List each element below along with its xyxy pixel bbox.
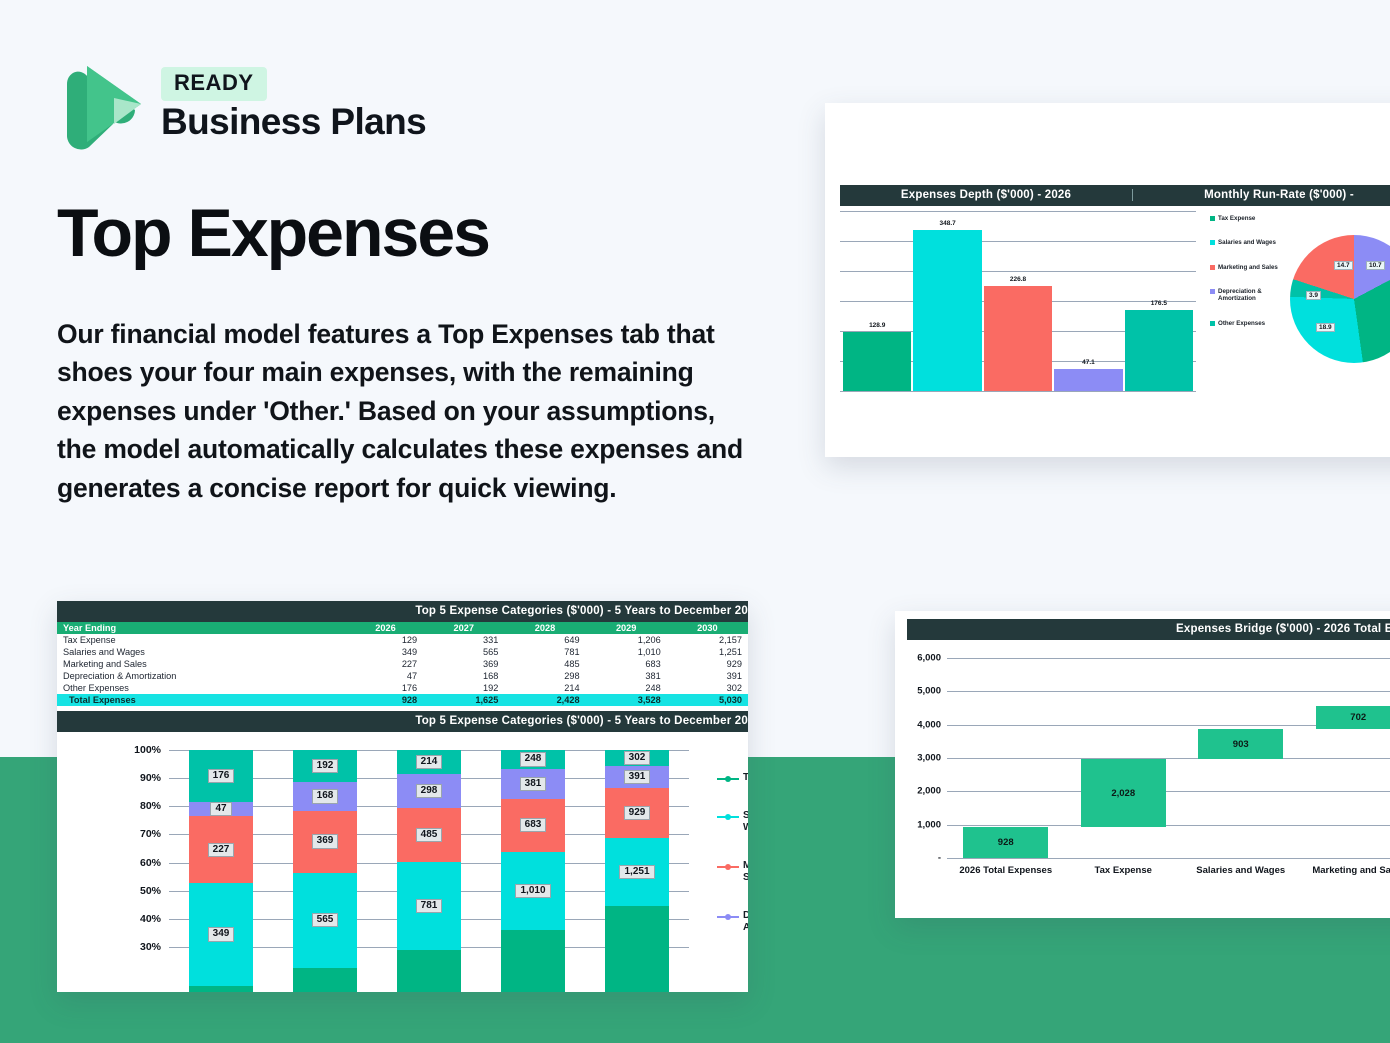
table-col-2030: 2030 xyxy=(667,622,748,634)
segment-label: 302 xyxy=(624,751,651,766)
waterfall-ytick-0: 6,000 xyxy=(895,653,941,664)
expenses-depth-title: Expenses Depth ($'000) - 2026 xyxy=(840,189,1133,201)
segment-label: 391 xyxy=(624,770,651,785)
stacked-segment-salaries-and-wages: 565 xyxy=(293,873,357,968)
row-label: Marketing and Sales xyxy=(57,658,348,670)
stacked-segment-other-expenses: 214 xyxy=(397,750,461,774)
depth-bar-2: 226.8 xyxy=(984,286,1052,391)
row-value: 168 xyxy=(423,670,504,682)
top5-table-title: Top 5 Expense Categories ($'000) - 5 Yea… xyxy=(57,601,748,622)
waterfall-ytick-4: 2,000 xyxy=(895,786,941,797)
segment-label: 1,251 xyxy=(619,865,654,880)
row-value: 485 xyxy=(504,658,585,670)
waterfall-bar-label: 903 xyxy=(1233,739,1249,750)
stacked-legend-item-1: Salaries and Wages xyxy=(717,810,748,834)
segment-label: 929 xyxy=(624,806,651,821)
stacked-legend-item-3: Depreciation & Amortization xyxy=(717,910,748,934)
depth-bar-label-3: 47.1 xyxy=(1054,359,1122,366)
depth-bar-4: 176.5 xyxy=(1125,310,1193,391)
waterfall-columns: 9282,028903702 xyxy=(947,658,1390,858)
stacked-segment-depreciation-amortization: 298 xyxy=(397,774,461,808)
legend-label: Marketing and Sales xyxy=(743,860,748,884)
stacked-legend: Tax ExpenseSalaries and WagesMarketing a… xyxy=(717,772,748,960)
segment-label: 485 xyxy=(416,828,443,843)
row-value: 565 xyxy=(423,646,504,658)
stacked-ytick-7: 30% xyxy=(57,941,161,953)
segment-label: 683 xyxy=(520,818,547,833)
row-value: 369 xyxy=(423,658,504,670)
legend-label: Depreciation & Amortization xyxy=(743,910,748,934)
row-value: 381 xyxy=(586,670,667,682)
expenses-bridge-card: Expenses Bridge ($'000) - 2026 Total Exp… xyxy=(895,611,1390,918)
segment-label: 248 xyxy=(520,752,547,767)
expenses-depth-title-bar: Expenses Depth ($'000) - 2026 Monthly Ru… xyxy=(840,185,1390,206)
stacked-legend-item-0: Tax Expense xyxy=(717,772,748,784)
waterfall-column-2: 903 xyxy=(1182,658,1300,858)
legend-marker-icon xyxy=(717,862,739,871)
waterfall-ytick-6: - xyxy=(895,853,941,864)
stacked-segment-tax-expense xyxy=(189,986,253,992)
segment-label: 349 xyxy=(208,927,235,942)
table-row: Salaries and Wages3495657811,0101,251 xyxy=(57,646,748,658)
stacked-column-2029: 2483816831,010 xyxy=(481,750,585,955)
monthly-run-rate-title: Monthly Run-Rate ($'000) - xyxy=(1133,189,1390,201)
row-value: 349 xyxy=(348,646,423,658)
legend-swatch-icon xyxy=(1210,216,1215,221)
stacked-segment-marketing-and-sales: 369 xyxy=(293,811,357,873)
expenses-depth-plot: 128.9348.7226.847.1176.5 xyxy=(840,211,1196,391)
pie-label-3: 14.7 xyxy=(1334,261,1353,270)
table-row: Depreciation & Amortization4716829838139… xyxy=(57,670,748,682)
depth-legend-item-0: Tax Expense xyxy=(1210,215,1290,222)
waterfall-bar-label: 928 xyxy=(998,837,1014,848)
total-label: Total Expenses xyxy=(57,694,348,706)
legend-marker-icon xyxy=(717,812,739,821)
stacked-segment-depreciation-amortization: 47 xyxy=(189,802,253,817)
row-value: 214 xyxy=(504,682,585,694)
total-value: 1,625 xyxy=(423,694,504,706)
waterfall-xtick-1: Tax Expense xyxy=(1065,865,1183,876)
stacked-ytick-3: 70% xyxy=(57,828,161,840)
waterfall-ytick-2: 4,000 xyxy=(895,719,941,730)
stacked-segment-marketing-and-sales: 683 xyxy=(501,799,565,852)
stacked-ytick-2: 80% xyxy=(57,800,161,812)
waterfall-xtick-0: 2026 Total Expenses xyxy=(947,865,1065,876)
depth-bar-1: 348.7 xyxy=(913,230,981,391)
legend-swatch-icon xyxy=(1210,265,1215,270)
pie-slices xyxy=(1290,235,1390,363)
row-label: Other Expenses xyxy=(57,682,348,694)
segment-label: 168 xyxy=(312,789,339,804)
depth-legend-item-2: Marketing and Sales xyxy=(1210,264,1290,271)
row-label: Salaries and Wages xyxy=(57,646,348,658)
stacked-segment-salaries-and-wages: 349 xyxy=(189,883,253,986)
segment-label: 192 xyxy=(312,759,339,774)
waterfall-column-0: 928 xyxy=(947,658,1065,858)
stacked-ytick-4: 60% xyxy=(57,857,161,869)
legend-label: Depreciation & Amortization xyxy=(1218,288,1290,303)
legend-label: Tax Expense xyxy=(1218,215,1255,222)
depth-bar-label-1: 348.7 xyxy=(913,220,981,227)
stacked-segment-marketing-and-sales: 485 xyxy=(397,808,461,863)
stacked-segment-other-expenses: 302 xyxy=(605,750,669,766)
segment-label: 214 xyxy=(416,755,443,770)
row-value: 192 xyxy=(423,682,504,694)
stacked-columns: 1764722734919216836956521429848578124838… xyxy=(169,750,689,955)
page-description: Our financial model features a Top Expen… xyxy=(57,315,757,507)
ready-badge: READY xyxy=(161,67,267,101)
segment-label: 227 xyxy=(208,843,235,858)
row-value: 1,251 xyxy=(667,646,748,658)
row-value: 298 xyxy=(504,670,585,682)
segment-label: 47 xyxy=(210,802,231,817)
stacked-segment-marketing-and-sales: 227 xyxy=(189,816,253,883)
stacked-segment-tax-expense xyxy=(501,930,565,992)
table-col-2027: 2027 xyxy=(423,622,504,634)
waterfall-ytick-3: 3,000 xyxy=(895,753,941,764)
stacked-segment-tax-expense xyxy=(293,968,357,992)
monthly-run-rate-pie: 10.7 3.9 18.9 14.7 xyxy=(1290,235,1390,363)
stacked-segment-marketing-and-sales: 929 xyxy=(605,788,669,838)
expenses-depth-card: Expenses Depth ($'000) - 2026 Monthly Ru… xyxy=(825,103,1390,457)
segment-label: 369 xyxy=(312,834,339,849)
waterfall-bar-label: 702 xyxy=(1350,712,1366,723)
waterfall-ytick-1: 5,000 xyxy=(895,686,941,697)
expenses-bridge-title: Expenses Bridge ($'000) - 2026 Total Exp… xyxy=(907,619,1390,640)
waterfall-ytick-5: 1,000 xyxy=(895,819,941,830)
legend-swatch-icon xyxy=(1210,240,1215,245)
row-value: 929 xyxy=(667,658,748,670)
depth-legend-item-4: Other Expenses xyxy=(1210,320,1290,327)
stacked-segment-other-expenses: 248 xyxy=(501,750,565,769)
brand-name: Business Plans xyxy=(161,103,426,142)
depth-bar-label-0: 128.9 xyxy=(843,322,911,329)
table-col-2026: 2026 xyxy=(348,622,423,634)
stacked-ytick-0: 100% xyxy=(57,744,161,756)
stacked-column-2027: 192168369565 xyxy=(273,750,377,955)
stacked-segment-depreciation-amortization: 168 xyxy=(293,782,357,810)
waterfall-x-axis: 2026 Total ExpensesTax ExpenseSalaries a… xyxy=(947,865,1390,876)
depth-bar-0: 128.9 xyxy=(843,332,911,391)
row-value: 47 xyxy=(348,670,423,682)
top5-stacked-title: Top 5 Expense Categories ($'000) - 5 Yea… xyxy=(57,711,748,732)
depth-legend-item-1: Salaries and Wages xyxy=(1210,239,1290,246)
table-col-2029: 2029 xyxy=(586,622,667,634)
row-value: 302 xyxy=(667,682,748,694)
row-value: 227 xyxy=(348,658,423,670)
waterfall-bar-0: 928 xyxy=(963,827,1048,858)
waterfall-bar-1: 2,028 xyxy=(1081,759,1166,827)
stacked-segment-salaries-and-wages: 1,010 xyxy=(501,852,565,930)
waterfall-column-3: 702 xyxy=(1300,658,1390,858)
stacked-segment-tax-expense xyxy=(397,950,461,992)
total-value: 928 xyxy=(348,694,423,706)
segment-label: 176 xyxy=(208,769,235,784)
stacked-legend-item-2: Marketing and Sales xyxy=(717,860,748,884)
legend-marker-icon xyxy=(717,912,739,921)
segment-label: 1,010 xyxy=(515,884,550,899)
page-title: Top Expenses xyxy=(57,199,489,267)
stacked-ytick-1: 90% xyxy=(57,772,161,784)
waterfall-column-1: 2,028 xyxy=(1065,658,1183,858)
total-value: 5,030 xyxy=(667,694,748,706)
table-header-row: Year Ending 2026 2027 2028 2029 2030 xyxy=(57,622,748,634)
segment-label: 381 xyxy=(520,777,547,792)
play-triangle-logo-icon xyxy=(57,58,145,150)
row-label: Tax Expense xyxy=(57,634,348,646)
depth-legend: Tax ExpenseSalaries and WagesMarketing a… xyxy=(1210,215,1290,344)
stacked-plot: 1764722734919216836956521429848578124838… xyxy=(169,750,689,955)
row-value: 649 xyxy=(504,634,585,646)
row-value: 1,010 xyxy=(586,646,667,658)
waterfall-xtick-3: Marketing and Sales xyxy=(1300,865,1390,876)
row-value: 129 xyxy=(348,634,423,646)
row-value: 248 xyxy=(586,682,667,694)
row-value: 781 xyxy=(504,646,585,658)
top5-expense-card: Top 5 Expense Categories ($'000) - 5 Yea… xyxy=(57,601,748,992)
stacked-segment-other-expenses: 192 xyxy=(293,750,357,782)
stacked-ytick-5: 50% xyxy=(57,885,161,897)
legend-label: Salaries and Wages xyxy=(1218,239,1276,246)
stacked-segment-depreciation-amortization: 391 xyxy=(605,766,669,787)
row-value: 331 xyxy=(423,634,504,646)
row-label: Depreciation & Amortization xyxy=(57,670,348,682)
row-value: 683 xyxy=(586,658,667,670)
legend-label: Tax Expense xyxy=(743,772,748,784)
stacked-ytick-6: 40% xyxy=(57,913,161,925)
table-row: Other Expenses176192214248302 xyxy=(57,682,748,694)
row-value: 391 xyxy=(667,670,748,682)
depth-bar-label-4: 176.5 xyxy=(1125,300,1193,307)
row-value: 2,157 xyxy=(667,634,748,646)
depth-bars: 128.9348.7226.847.1176.5 xyxy=(842,211,1194,391)
stacked-segment-tax-expense xyxy=(605,906,669,992)
row-value: 1,206 xyxy=(586,634,667,646)
depth-bar-3: 47.1 xyxy=(1054,369,1122,391)
pie-label-2: 18.9 xyxy=(1316,323,1335,332)
legend-marker-icon xyxy=(717,774,739,783)
segment-label: 565 xyxy=(312,913,339,928)
segment-label: 781 xyxy=(416,899,443,914)
top5-stacked-chart: 100%90%80%70%60%50%40%30% 17647227349192… xyxy=(57,732,748,962)
waterfall-bar-label: 2,028 xyxy=(1111,788,1135,799)
segment-label: 298 xyxy=(416,784,443,799)
top5-expense-table: Year Ending 2026 2027 2028 2029 2030 Tax… xyxy=(57,622,748,706)
stacked-segment-salaries-and-wages: 781 xyxy=(397,862,461,950)
legend-label: Salaries and Wages xyxy=(743,810,748,834)
stacked-segment-other-expenses: 176 xyxy=(189,750,253,802)
legend-label: Marketing and Sales xyxy=(1218,264,1278,271)
waterfall-bar-2: 903 xyxy=(1198,729,1283,759)
stacked-column-2030: 3023919291,251 xyxy=(585,750,689,955)
expenses-bridge-chart: 6,0005,0004,0003,0002,0001,000- 9282,028… xyxy=(895,640,1390,905)
stacked-segment-depreciation-amortization: 381 xyxy=(501,769,565,799)
table-total-row: Total Expenses9281,6252,4283,5285,030 xyxy=(57,694,748,706)
table-row: Marketing and Sales227369485683929 xyxy=(57,658,748,670)
waterfall-bar-3: 702 xyxy=(1316,706,1390,729)
table-col-2028: 2028 xyxy=(504,622,585,634)
depth-legend-item-3: Depreciation & Amortization xyxy=(1210,288,1290,303)
waterfall-xtick-2: Salaries and Wages xyxy=(1182,865,1300,876)
row-value: 176 xyxy=(348,682,423,694)
legend-label: Other Expenses xyxy=(1218,320,1265,327)
pie-label-1: 3.9 xyxy=(1306,291,1321,300)
depth-bar-label-2: 226.8 xyxy=(984,276,1052,283)
stacked-segment-salaries-and-wages: 1,251 xyxy=(605,838,669,906)
stacked-column-2028: 214298485781 xyxy=(377,750,481,955)
total-value: 2,428 xyxy=(504,694,585,706)
table-row-header: Year Ending xyxy=(57,622,348,634)
stacked-column-2026: 17647227349 xyxy=(169,750,273,955)
total-value: 3,528 xyxy=(586,694,667,706)
pie-label-0: 10.7 xyxy=(1366,261,1385,270)
table-row: Tax Expense1293316491,2062,157 xyxy=(57,634,748,646)
waterfall-plot: 6,0005,0004,0003,0002,0001,000- 9282,028… xyxy=(947,658,1390,858)
legend-swatch-icon xyxy=(1210,321,1215,326)
brand-logo: READY Business Plans xyxy=(57,58,426,150)
legend-swatch-icon xyxy=(1210,289,1215,294)
